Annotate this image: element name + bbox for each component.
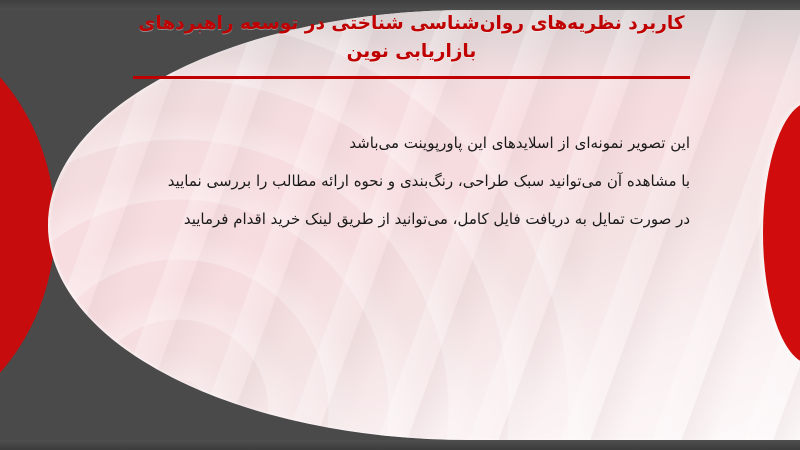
title-underline-rule	[133, 76, 690, 79]
slide-title: کاربرد نظریه‌های روان‌شناسی شناختی در تو…	[133, 10, 690, 66]
body-line-3: در صورت تمایل به دریافت فایل کامل، می‌تو…	[150, 200, 690, 238]
body-line-1: این تصویر نمونه‌ای از اسلایدهای این پاور…	[150, 124, 690, 162]
left-red-ellipse-decoration	[0, 8, 55, 442]
slide-frame-top-bar	[0, 0, 800, 10]
slide-frame-bottom-bar	[0, 440, 800, 450]
body-line-2: با مشاهده آن می‌توانید سبک طراحی، رنگ‌بن…	[150, 162, 690, 200]
presentation-slide: کاربرد نظریه‌های روان‌شناسی شناختی در تو…	[0, 0, 800, 450]
slide-body-text: این تصویر نمونه‌ای از اسلایدهای این پاور…	[150, 124, 690, 238]
